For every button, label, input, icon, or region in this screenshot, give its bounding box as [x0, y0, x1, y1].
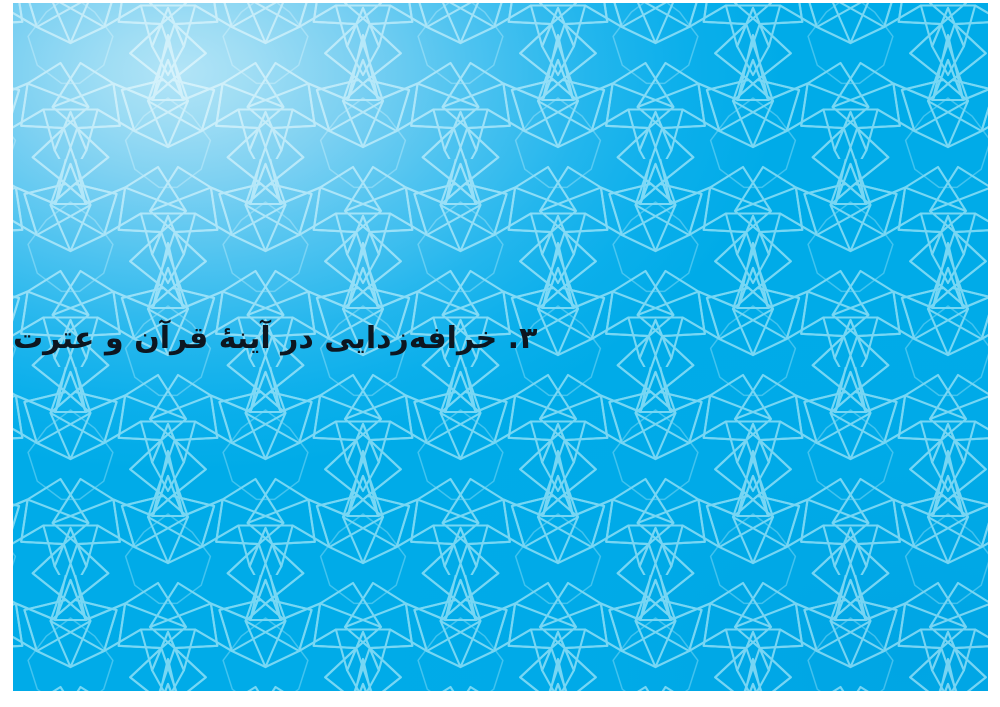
slide-canvas: ۳. خرافه‌زدایی در آینهٔ قرآن و عترت	[13, 3, 988, 691]
slide-title-block: ۳. خرافه‌زدایی در آینهٔ قرآن و عترت	[13, 319, 621, 360]
page-title: ۳. خرافه‌زدایی در آینهٔ قرآن و عترت	[13, 319, 537, 360]
slide-page: ۳. خرافه‌زدایی در آینهٔ قرآن و عترت	[0, 0, 1000, 707]
